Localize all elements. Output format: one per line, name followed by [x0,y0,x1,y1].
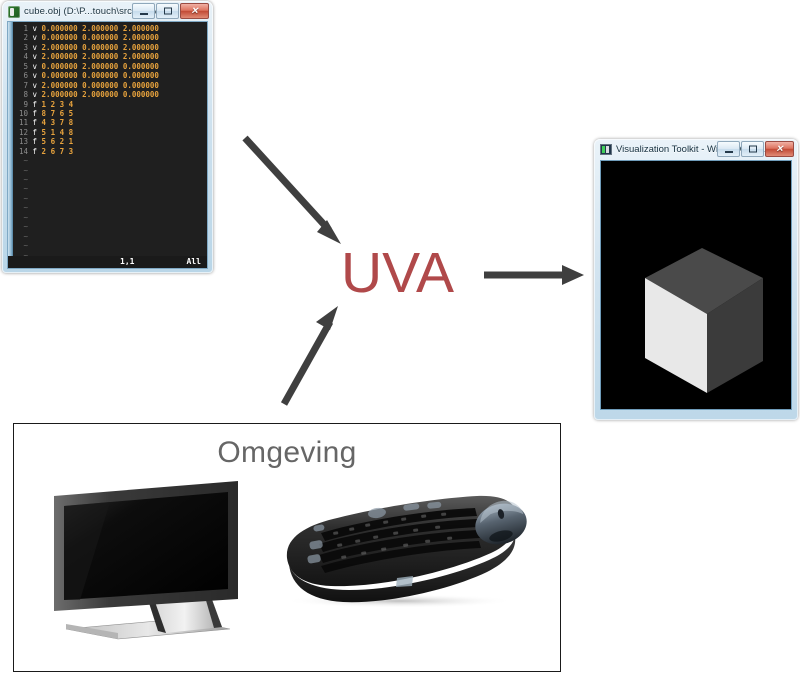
gvim-line-values: 8 7 6 5 [42,109,74,118]
gvim-maximize-button[interactable] [156,3,179,19]
gvim-line-values: 0.000000 0.000000 2.000000 [42,33,159,42]
omgeving-panel: Omgeving [13,423,561,672]
vtk-maximize-button[interactable] [741,141,764,157]
gvim-empty-line: ~ [13,232,207,241]
gvim-line-keyword: v [28,24,42,33]
gvim-code-line: 9 f 1 2 3 4 [13,100,207,109]
keyboard-and-mouse-icon [279,486,534,611]
gvim-line-values: 0.000000 0.000000 0.000000 [42,71,159,80]
gvim-empty-line: ~ [13,194,207,203]
gvim-line-values: 5 6 2 1 [42,137,74,146]
gvim-titlebar[interactable]: cube.obj (D:\P...touch\src) - GVIM ✕ [5,3,210,20]
gvim-line-values: 1 2 3 4 [42,100,74,109]
gvim-tilde-marker: ~ [13,213,28,222]
gvim-line-number: 12 [13,128,28,137]
gvim-line-keyword: f [28,118,42,127]
vtk-close-button[interactable]: ✕ [765,141,794,157]
gvim-tilde-marker: ~ [13,175,28,184]
gvim-line-number: 6 [13,71,28,80]
gvim-code-line: 1 v 0.000000 2.000000 2.000000 [13,24,207,33]
gvim-code-line: 13 f 5 6 2 1 [13,137,207,146]
gvim-line-values: 0.000000 2.000000 0.000000 [42,62,159,71]
gvim-line-number: 2 [13,33,28,42]
gvim-line-values: 5 1 4 8 [42,128,74,137]
gvim-line-number: 7 [13,81,28,90]
gvim-tilde-marker: ~ [13,203,28,212]
gvim-line-values: 0.000000 2.000000 2.000000 [42,24,159,33]
gvim-window[interactable]: cube.obj (D:\P...touch\src) - GVIM ✕ 1 v… [2,1,213,273]
gvim-line-number: 14 [13,147,28,156]
gvim-code-line: 2 v 0.000000 0.000000 2.000000 [13,33,207,42]
gvim-code-line: 4 v 2.000000 2.000000 2.000000 [13,52,207,61]
gvim-text-buffer[interactable]: 1 v 0.000000 2.000000 2.0000002 v 0.0000… [8,22,207,256]
gvim-code-line: 10 f 8 7 6 5 [13,109,207,118]
gvim-line-values: 2.000000 0.000000 2.000000 [42,43,159,52]
vtk-window-controls: ✕ [717,141,794,157]
gvim-window-controls: ✕ [132,3,209,19]
diagram-canvas: cube.obj (D:\P...touch\src) - GVIM ✕ 1 v… [0,0,800,680]
gvim-line-values: 2.000000 2.000000 2.000000 [42,52,159,61]
gvim-status-bar: 1,1 All [8,256,207,268]
gvim-line-number: 13 [13,137,28,146]
arrow-uva-to-vtk [484,262,588,288]
gvim-line-keyword: v [28,33,42,42]
arrow-obj-to-uva [245,138,355,253]
gvim-line-number: 10 [13,109,28,118]
gvim-tilde-marker: ~ [13,222,28,231]
omgeving-title: Omgeving [14,436,560,470]
gvim-code-line: 12 f 5 1 4 8 [13,128,207,137]
gvim-line-number: 1 [13,24,28,33]
gvim-line-number: 4 [13,52,28,61]
gvim-code-line: 3 v 2.000000 0.000000 2.000000 [13,43,207,52]
gvim-line-keyword: v [28,81,42,90]
gvim-scroll-indicator: All [187,257,201,266]
gvim-cursor-position: 1,1 [120,257,134,266]
gvim-close-button[interactable]: ✕ [180,3,209,19]
vtk-app-icon [600,144,612,155]
vtk-3d-viewport[interactable] [600,160,792,410]
gvim-app-icon [8,6,20,18]
gvim-minimize-button[interactable] [132,3,155,19]
gvim-line-keyword: f [28,147,42,156]
gvim-tilde-marker: ~ [13,166,28,175]
vtk-render-window[interactable]: Visualization Toolkit - Win32Open... ✕ [594,139,798,420]
gvim-empty-line: ~ [13,203,207,212]
gvim-empty-line: ~ [13,175,207,184]
vtk-minimize-button[interactable] [717,141,740,157]
gvim-line-number: 8 [13,90,28,99]
gvim-tilde-marker: ~ [13,241,28,250]
gvim-line-values: 4 3 7 8 [42,118,74,127]
gvim-tilde-marker: ~ [13,194,28,203]
gvim-line-keyword: v [28,43,42,52]
gvim-line-keyword: f [28,137,42,146]
vtk-titlebar[interactable]: Visualization Toolkit - Win32Open... ✕ [597,141,795,158]
gvim-line-keyword: f [28,100,42,109]
gvim-empty-line: ~ [13,213,207,222]
gvim-line-keyword: v [28,62,42,71]
gvim-code-line: 6 v 0.000000 0.000000 0.000000 [13,71,207,80]
cube-3d-model [601,161,792,410]
gvim-empty-line: ~ [13,222,207,231]
gvim-line-keyword: f [28,128,42,137]
gvim-tilde-marker: ~ [13,184,28,193]
gvim-line-number: 3 [13,43,28,52]
gvim-line-number: 9 [13,100,28,109]
gvim-line-values: 2 6 7 3 [42,147,74,156]
gvim-code-line: 14 f 2 6 7 3 [13,147,207,156]
arrow-env-to-uva [272,300,352,410]
gvim-line-values: 2.000000 2.000000 0.000000 [42,90,159,99]
uva-center-label: UVA [341,243,454,303]
gvim-empty-line: ~ [13,241,207,250]
gvim-line-keyword: f [28,109,42,118]
gvim-line-keyword: v [28,71,42,80]
monitor-icon [50,481,250,646]
gvim-code-line: 8 v 2.000000 2.000000 0.000000 [13,90,207,99]
gvim-line-number: 11 [13,118,28,127]
gvim-code-line: 11 f 4 3 7 8 [13,118,207,127]
gvim-line-values: 2.000000 0.000000 0.000000 [42,81,159,90]
gvim-tilde-marker: ~ [13,232,28,241]
gvim-empty-line: ~ [13,156,207,165]
gvim-line-keyword: v [28,52,42,61]
gvim-client-area: 1 v 0.000000 2.000000 2.0000002 v 0.0000… [7,21,208,269]
gvim-empty-line: ~ [13,184,207,193]
gvim-empty-line: ~ [13,166,207,175]
gvim-code-line: 7 v 2.000000 0.000000 0.000000 [13,81,207,90]
gvim-line-number: 5 [13,62,28,71]
gvim-code-line: 5 v 0.000000 2.000000 0.000000 [13,62,207,71]
gvim-tilde-marker: ~ [13,156,28,165]
gvim-line-keyword: v [28,90,42,99]
